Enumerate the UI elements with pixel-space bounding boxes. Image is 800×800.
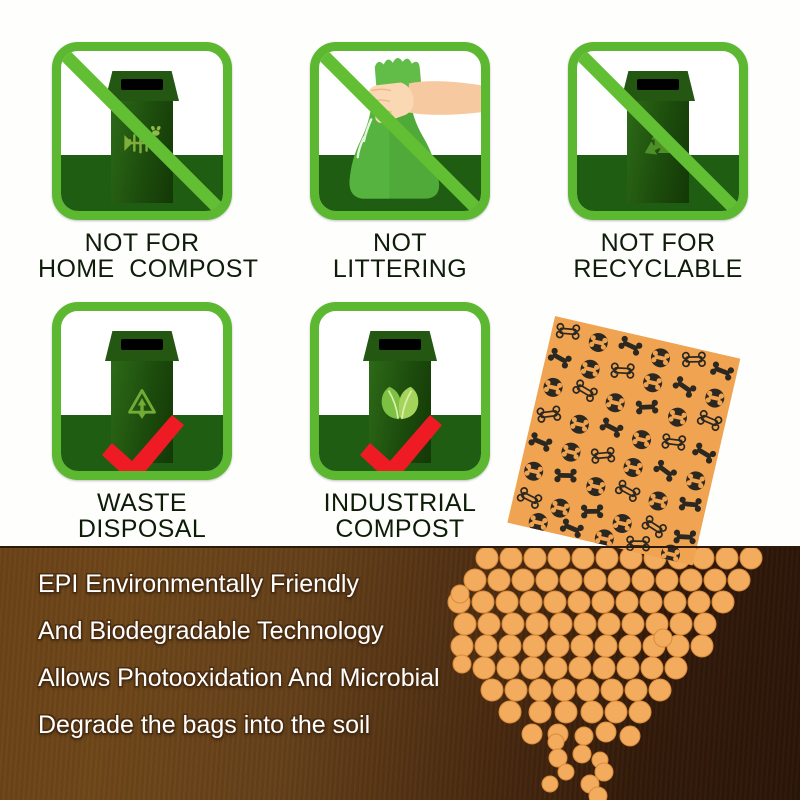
caption-line-2: LITTERING: [296, 256, 504, 282]
icon-card-not-for-home-compost[interactable]: NOT FOR HOME COMPOST: [38, 42, 246, 282]
caption-line-1: NOT FOR: [38, 230, 246, 256]
soil-divider: [0, 546, 800, 548]
caption-line-2: HOME COMPOST: [38, 256, 246, 282]
caption-line-2: DISPOSAL: [38, 516, 246, 542]
fish-bone-icon: [119, 123, 165, 163]
caption-line-2: RECYCLABLE: [554, 256, 762, 282]
hand-holding-bag-icon: [319, 51, 481, 211]
soil-panel: EPI Environmentally Friendly And Biodegr…: [0, 546, 800, 800]
icon-frame: [52, 302, 232, 480]
caption-line-1: NOT FOR: [554, 230, 762, 256]
icon-caption: WASTE DISPOSAL: [38, 490, 246, 542]
icon-caption: NOT FOR HOME COMPOST: [38, 230, 246, 282]
caption-line-1: INDUSTRIAL: [296, 490, 504, 516]
icon-caption: INDUSTRIAL COMPOST: [296, 490, 504, 542]
icon-caption: NOT LITTERING: [296, 230, 504, 282]
soil-line-3: Allows Photooxidation And Microbial: [38, 666, 440, 691]
icon-frame: [310, 42, 490, 220]
recycle-arrows-icon: [635, 123, 681, 163]
icon-frame: [568, 42, 748, 220]
icon-card-not-for-recyclable[interactable]: NOT FOR RECYCLABLE: [554, 42, 762, 282]
trash-bin-illustration: [105, 71, 179, 203]
icon-frame: [310, 302, 490, 480]
soil-line-4: Degrade the bags into the soil: [38, 713, 440, 738]
red-check-icon: [354, 409, 446, 480]
icon-card-industrial-compost[interactable]: INDUSTRIAL COMPOST: [296, 302, 504, 542]
icon-frame: [52, 42, 232, 220]
soil-line-2: And Biodegradable Technology: [38, 619, 440, 644]
infographic-page: NOT FOR HOME COMPOST: [0, 0, 800, 800]
icon-card-waste-disposal[interactable]: WASTE DISPOSAL: [38, 302, 246, 542]
soil-line-1: EPI Environmentally Friendly: [38, 572, 440, 597]
caption-line-1: NOT: [296, 230, 504, 256]
icon-caption: NOT FOR RECYCLABLE: [554, 230, 762, 282]
caption-line-1: WASTE: [38, 490, 246, 516]
trash-bin-illustration: [621, 71, 695, 203]
red-check-icon: [96, 409, 188, 480]
soil-description-text: EPI Environmentally Friendly And Biodegr…: [38, 572, 440, 760]
caption-line-2: COMPOST: [296, 516, 504, 542]
icon-card-not-littering[interactable]: NOT LITTERING: [296, 42, 504, 282]
